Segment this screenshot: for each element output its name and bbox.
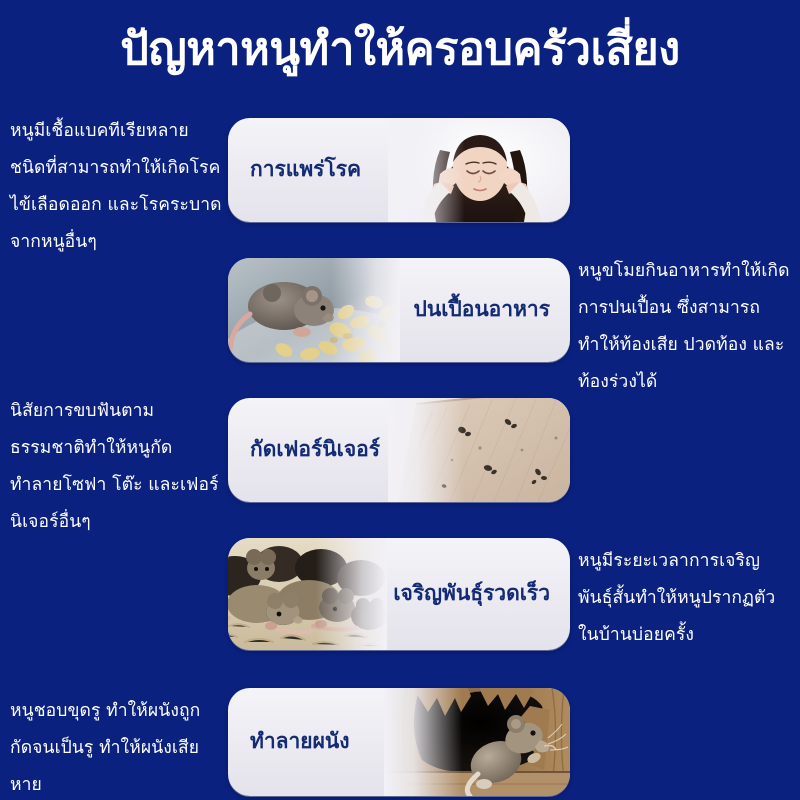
row-description-furniture-gnawing: นิสัยการขบฟันตามธรรมชาติทำให้หนูกัดทำลาย… [10,393,222,541]
row-description-fast-breeding: หนูมีระยะเวลาการเจริญพันธุ์สั้นทำให้หนูป… [578,543,792,654]
card-label-food-contamination: ปนเปื้อนอาหาร [400,298,570,321]
woman-headache-photo [388,118,570,222]
card-disease-spread[interactable]: การแพร่โรค [228,118,570,222]
damaged-furniture-photo [388,398,570,502]
page-title: ปัญหาหนูทำให้ครอบครัวเสี่ยง [120,26,679,71]
rat-on-damaged-wall-photo [384,688,570,796]
infographic-page: ปัญหาหนูทำให้ครอบครัวเสี่ยง หนูมีเชื้อแบ… [0,0,800,800]
row-description-disease-spread: หนูมีเชื้อแบคทีเรียหลายชนิดที่สามารถทำให… [10,113,222,261]
card-wall-damage[interactable]: ทำลายผนัง [228,688,570,796]
card-food-contamination[interactable]: ปนเปื้อนอาหาร [228,258,570,362]
row-description-wall-damage: หนูชอบขุดรู ทำให้ผนังถูกกัดจนเป็นรู ทำให… [10,693,222,800]
card-label-fast-breeding: เจริญพันธุ์รวดเร็ว [387,582,570,605]
row-description-food-contamination: หนูขโมยกินอาหารทำให้เกิดการปนเปื้อน ซึ่ง… [578,253,792,401]
card-fast-breeding[interactable]: เจริญพันธุ์รวดเร็ว [228,538,570,650]
group-of-mice-photo [228,538,387,650]
page-title-bar: ปัญหาหนูทำให้ครอบครัวเสี่ยง [0,0,800,96]
mouse-eating-food-photo [228,258,400,362]
card-label-disease-spread: การแพร่โรค [228,158,388,181]
card-label-furniture-gnawing: กัดเฟอร์นิเจอร์ [228,438,388,461]
card-label-wall-damage: ทำลายผนัง [228,730,384,753]
card-furniture-gnawing[interactable]: กัดเฟอร์นิเจอร์ [228,398,570,502]
